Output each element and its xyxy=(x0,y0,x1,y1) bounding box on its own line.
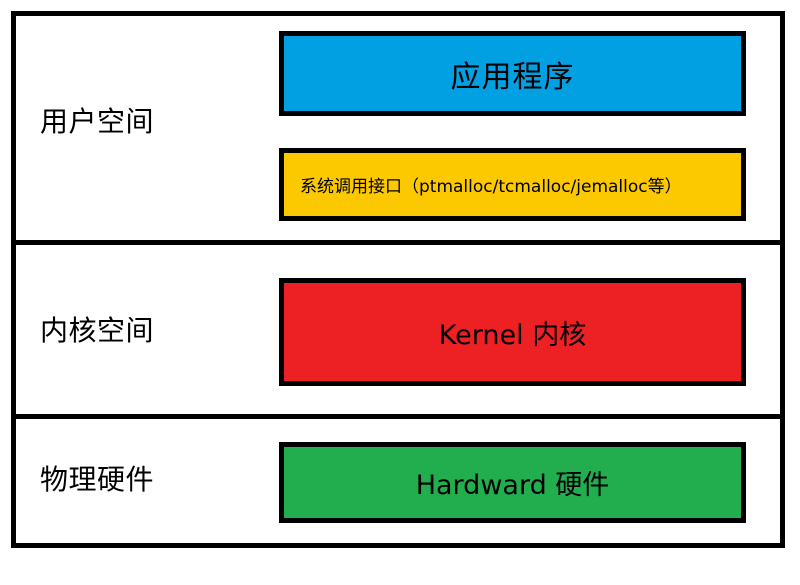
box-application: 应用程序 xyxy=(279,31,746,116)
box-syscall-interface-label: 系统调用接口（ptmalloc/tcmalloc/jemalloc等） xyxy=(300,172,682,197)
box-hardware: Hardward 硬件 xyxy=(279,442,746,523)
box-hardware-label: Hardward 硬件 xyxy=(416,463,610,502)
box-application-label: 应用程序 xyxy=(451,52,575,96)
divider-kernel-hardware xyxy=(11,414,785,419)
row-label-physical-hardware: 物理硬件 xyxy=(40,466,154,494)
row-label-kernel-space: 内核空间 xyxy=(40,317,154,345)
box-syscall-interface: 系统调用接口（ptmalloc/tcmalloc/jemalloc等） xyxy=(279,148,746,221)
row-label-user-space: 用户空间 xyxy=(40,108,154,136)
box-kernel-label: Kernel 内核 xyxy=(439,313,586,352)
divider-user-kernel xyxy=(11,240,785,245)
layer-architecture-diagram: 用户空间 应用程序 系统调用接口（ptmalloc/tcmalloc/jemal… xyxy=(0,0,800,585)
box-kernel: Kernel 内核 xyxy=(279,278,746,386)
